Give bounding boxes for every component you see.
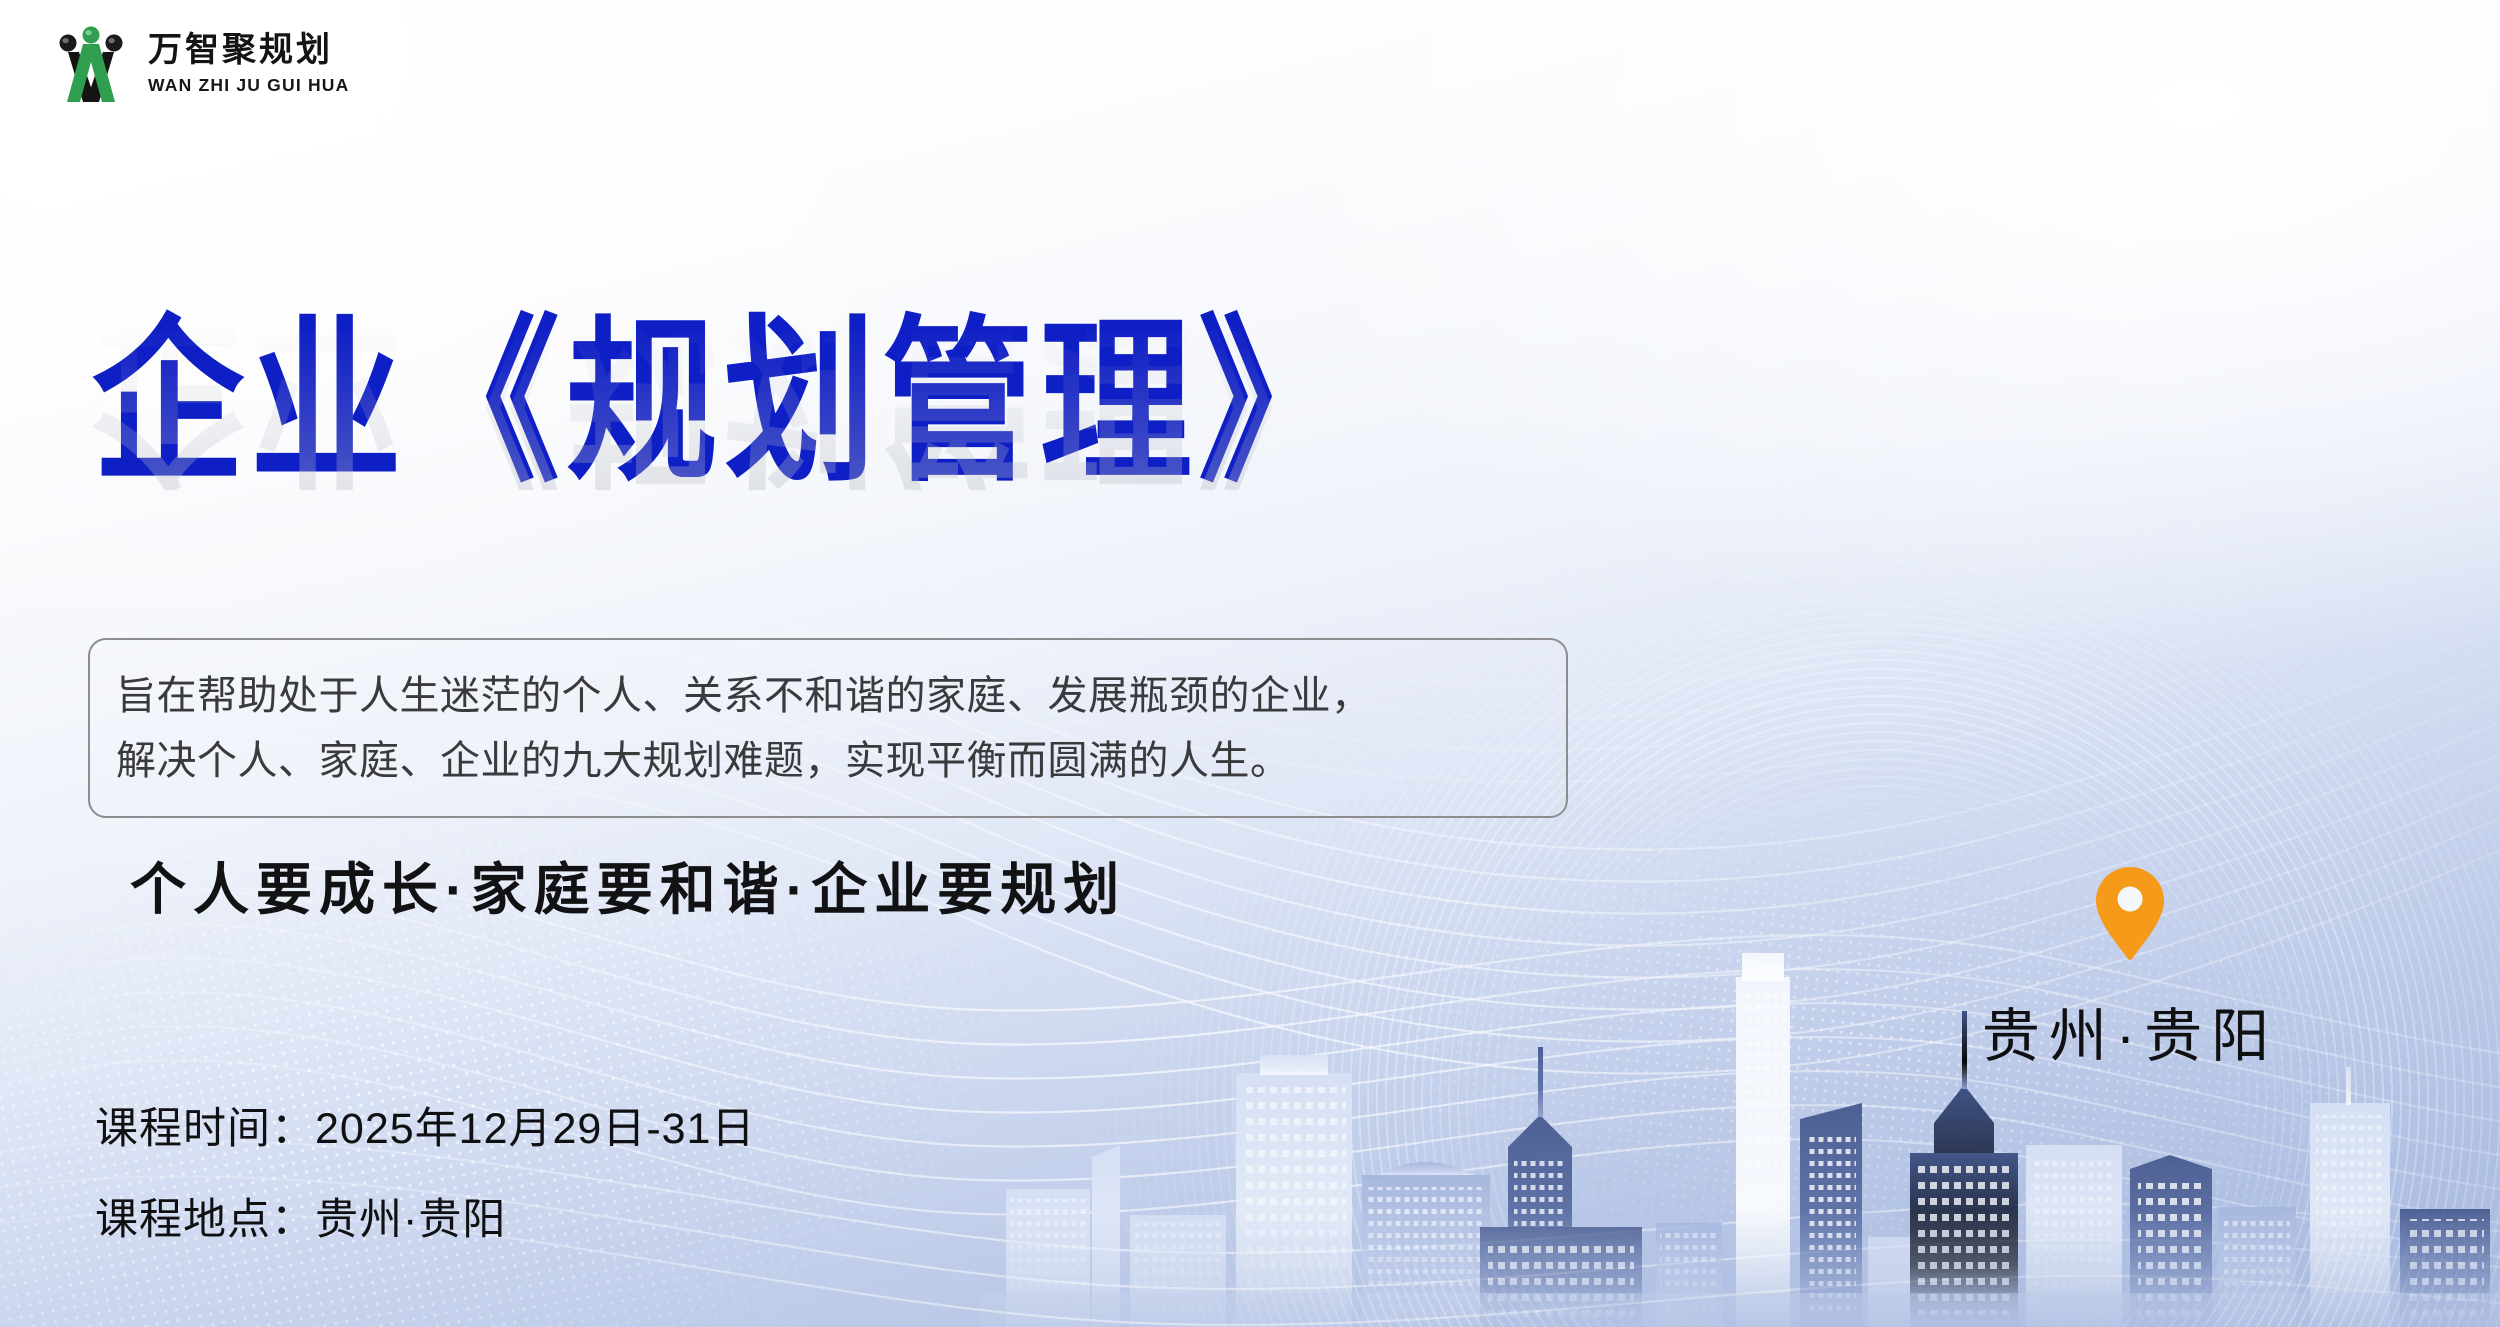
course-place: 课程地点：贵州·贵阳 <box>95 1199 755 1242</box>
description-line-2: 解决个人、家庭、企业的九大规划难题，实现平衡而圆满的人生。 <box>116 729 1540 794</box>
slogan-text: 个人要成长·家庭要和谐·企业要规划 <box>130 845 1126 926</box>
page-title: 企业《规划管理》 <box>92 314 1356 492</box>
three-people-logo-icon <box>52 24 130 104</box>
brand-name-en: WAN ZHI JU GUI HUA <box>148 77 349 95</box>
brand-name-cn: 万智聚规划 <box>148 34 349 68</box>
course-time: 课程时间：2025年12月29日-31日 <box>95 1108 755 1151</box>
brand-logo[interactable]: 万智聚规划 WAN ZHI JU GUI HUA <box>52 24 349 104</box>
map-pin-icon <box>2094 865 2166 961</box>
description-line-1: 旨在帮助处于人生迷茫的个人、关系不和谐的家庭、发展瓶颈的企业， <box>116 664 1540 729</box>
location-label: 贵州·贵阳 <box>1982 989 2278 1073</box>
course-info-block: 课程时间：2025年12月29日-31日 课程地点：贵州·贵阳 <box>95 1108 755 1242</box>
poster-canvas: 万智聚规划 WAN ZHI JU GUI HUA 企业《规划管理》 企业《规划管… <box>0 0 2500 1327</box>
description-box: 旨在帮助处于人生迷茫的个人、关系不和谐的家庭、发展瓶颈的企业， 解决个人、家庭、… <box>88 638 1568 818</box>
location-badge: 贵州·贵阳 <box>1950 865 2310 1073</box>
hero-title-block: 企业《规划管理》 企业《规划管理》 <box>92 314 1356 466</box>
